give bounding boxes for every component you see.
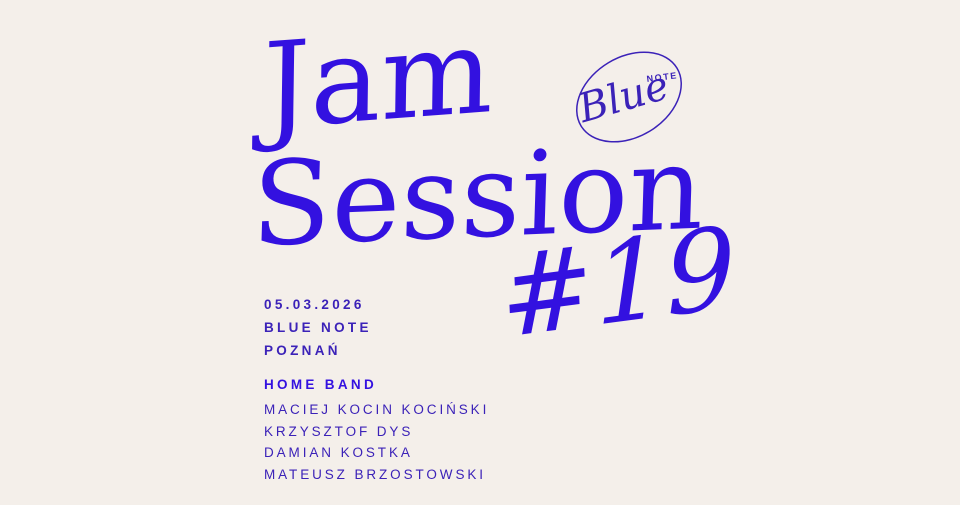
home-band-block: HOME BAND MACIEJ KOCIN KOCIŃSKI KRZYSZTO…: [264, 373, 489, 485]
headline-edition-number: #19: [498, 212, 739, 355]
event-date: 05.03.2026: [264, 293, 372, 316]
band-member: DAMIAN KOSTKA: [264, 442, 489, 464]
blue-note-logo[interactable]: Blue NOTE: [566, 36, 692, 158]
band-member: KRZYSZTOF DYS: [264, 421, 489, 443]
band-member: MACIEJ KOCIN KOCIŃSKI: [264, 399, 489, 421]
event-info-block: 05.03.2026 BLUE NOTE POZNAŃ: [264, 293, 372, 362]
event-city: POZNAŃ: [264, 339, 372, 362]
event-poster: Jam Session #19 Blue NOTE 05.03.2026 BLU…: [0, 0, 960, 505]
headline-line-jam: Jam: [262, 11, 494, 146]
band-member: MATEUSZ BRZOSTOWSKI: [264, 464, 489, 486]
event-venue: BLUE NOTE: [264, 316, 372, 339]
home-band-heading: HOME BAND: [264, 373, 489, 396]
